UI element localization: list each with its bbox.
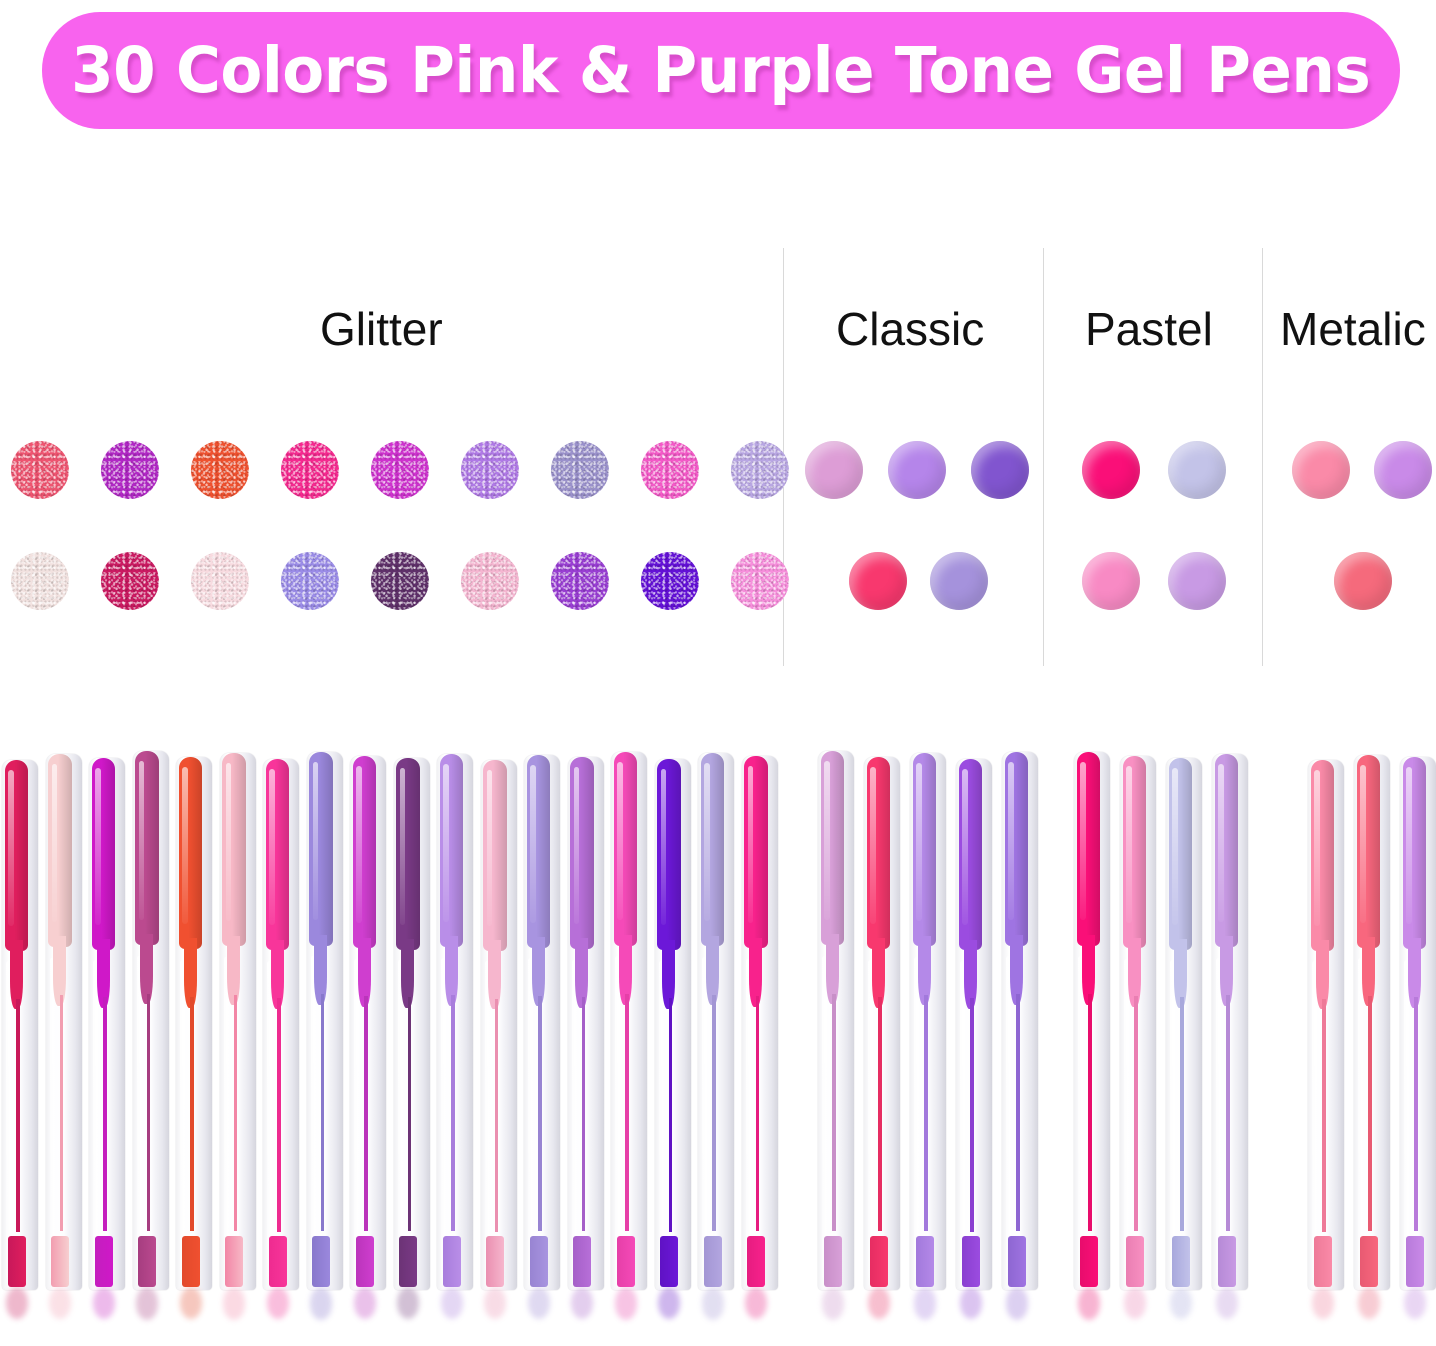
pen-cap: [48, 754, 72, 947]
pen-cap: [92, 758, 116, 950]
pen-gloss: [1358, 958, 1363, 1279]
pen-gloss: [1006, 956, 1011, 1279]
swatch-classic-r1-2: [971, 441, 1029, 499]
swatch-glitter-r2-4: [371, 552, 429, 610]
pen-ink-tube: [924, 995, 927, 1231]
swatch-glitter-r2-5: [461, 552, 519, 610]
swatch-glitter-r1-6: [551, 441, 609, 499]
pen-gloss: [311, 956, 316, 1279]
pen-classic-1: [864, 757, 900, 1290]
pen-gloss: [659, 961, 664, 1280]
swatch-glitter-r1-4: [371, 441, 429, 499]
pen-pastel-0: [1074, 752, 1110, 1290]
pen-ink-tube: [277, 998, 280, 1232]
pen-end-plug: [312, 1236, 330, 1287]
pen-reflection: [441, 1287, 463, 1319]
pen-end-plug: [356, 1236, 374, 1287]
swatch-pastel-r1-0: [1082, 441, 1140, 499]
pen-cap: [1403, 757, 1427, 949]
pen-gloss: [746, 959, 751, 1279]
pen-ink-tube: [1134, 996, 1137, 1231]
pen-reflection: [310, 1287, 332, 1319]
pen-glitter-16: [698, 753, 734, 1290]
pen-reflection: [1006, 1287, 1028, 1319]
page-title: 30 Colors Pink & Purple Tone Gel Pens: [71, 34, 1370, 107]
category-label-pastel: Pastel: [1085, 306, 1213, 352]
pen-gloss: [1124, 959, 1129, 1279]
pen-reflection: [1358, 1287, 1380, 1319]
pen-cap: [1215, 754, 1239, 947]
pen-gloss: [93, 960, 98, 1279]
swatch-classic-r2-0: [849, 552, 907, 610]
pen-ink-tube: [408, 997, 411, 1231]
pen-ink-tube: [1368, 996, 1371, 1231]
pen-cap: [959, 759, 983, 950]
pen-cap: [135, 751, 159, 945]
pen-glitter-6: [263, 759, 299, 1290]
pen-end-plug: [1314, 1236, 1332, 1286]
swatch-glitter-r1-0: [11, 441, 69, 499]
pen-cap: [266, 759, 290, 950]
pen-cap: [483, 760, 507, 951]
pen-cap: [1311, 760, 1335, 951]
pen-gloss: [354, 959, 359, 1279]
pen-glitter-15: [655, 759, 691, 1290]
swatch-metalic-r2-0: [1334, 552, 1392, 610]
swatch-glitter-r1-1: [101, 441, 159, 499]
pen-end-plug: [1406, 1236, 1424, 1287]
pen-gloss: [615, 956, 620, 1279]
pen-cap: [614, 752, 638, 946]
swatch-pastel-r2-1: [1168, 552, 1226, 610]
pen-cap: [867, 757, 891, 949]
pen-reflection: [397, 1287, 419, 1319]
pen-gloss: [1170, 960, 1175, 1279]
pen-end-plug: [916, 1236, 934, 1287]
pen-ink-tube: [60, 995, 63, 1231]
pen-gloss: [441, 958, 446, 1280]
pen-gloss: [960, 961, 965, 1280]
pen-classic-3: [956, 759, 992, 1290]
pen-pastel-2: [1166, 758, 1202, 1290]
pen-reflection: [1078, 1287, 1100, 1319]
pen-gloss: [6, 961, 11, 1279]
pen-end-plug: [225, 1236, 243, 1287]
swatch-metalic-r1-1: [1374, 441, 1432, 499]
pen-end-plug: [399, 1236, 417, 1287]
swatch-glitter-r1-8: [731, 441, 789, 499]
pen-ink-tube: [1016, 994, 1019, 1231]
pen-gloss: [224, 957, 229, 1279]
swatch-classic-r1-1: [888, 441, 946, 499]
pen-reflection: [6, 1287, 28, 1319]
category-label-classic: Classic: [836, 306, 984, 352]
pen-end-plug: [51, 1236, 69, 1287]
pen-end-plug: [962, 1236, 980, 1286]
pen-cap: [1123, 756, 1147, 948]
pen-gloss: [572, 960, 577, 1280]
pen-ink-tube: [103, 997, 106, 1231]
pen-gloss: [1216, 958, 1221, 1280]
pen-end-plug: [530, 1236, 548, 1287]
swatch-glitter-r2-7: [641, 552, 699, 610]
pen-gloss: [50, 958, 55, 1280]
pen-ink-tube: [495, 999, 498, 1232]
pen-cap: [1077, 752, 1101, 946]
pen-pastel-3: [1212, 754, 1248, 1290]
pen-gloss: [1312, 961, 1317, 1279]
swatch-glitter-r1-5: [461, 441, 519, 499]
pen-ink-tube: [1088, 994, 1091, 1231]
pen-cap: [1169, 758, 1193, 950]
pen-reflection: [960, 1287, 982, 1319]
pen-ink-tube: [451, 995, 454, 1231]
swatch-metalic-r1-0: [1292, 441, 1350, 499]
pen-gloss: [702, 957, 707, 1279]
pen-reflection: [914, 1287, 936, 1319]
pen-gloss: [1078, 956, 1083, 1279]
pen-ink-tube: [1226, 995, 1229, 1231]
pen-end-plug: [1080, 1236, 1098, 1287]
swatch-glitter-r2-1: [101, 552, 159, 610]
pen-ink-tube: [756, 996, 759, 1231]
pen-cap: [570, 757, 594, 949]
pen-end-plug: [824, 1236, 842, 1287]
pen-cap: [657, 759, 681, 950]
divider-pastel-metalic: [1262, 248, 1263, 666]
pen-pastel-1: [1120, 756, 1156, 1290]
pen-end-plug: [660, 1236, 678, 1286]
pen-reflection: [1124, 1287, 1146, 1319]
pen-reflection: [1312, 1287, 1334, 1319]
pen-end-plug: [182, 1236, 200, 1287]
pen-reflection: [180, 1287, 202, 1319]
pen-reflection: [822, 1287, 844, 1319]
title-banner: 30 Colors Pink & Purple Tone Gel Pens: [42, 12, 1400, 129]
pen-cap: [913, 753, 937, 946]
pen-cap: [179, 757, 203, 949]
pen-cap: [5, 760, 29, 951]
pen-cap: [222, 753, 246, 946]
pen-ink-tube: [364, 996, 367, 1231]
pen-ink-tube: [712, 995, 715, 1231]
pen-ink-tube: [16, 999, 19, 1232]
pen-metalic-2: [1400, 757, 1436, 1290]
swatch-glitter-r2-6: [551, 552, 609, 610]
pen-cap: [744, 756, 768, 948]
pen-ink-tube: [1414, 997, 1417, 1232]
pen-cap: [353, 756, 377, 948]
pen-cap: [527, 755, 551, 948]
pen-ink-tube: [832, 994, 835, 1231]
pen-reflection: [571, 1287, 593, 1319]
pen-glitter-11: [481, 760, 517, 1290]
pen-ink-tube: [1322, 999, 1325, 1232]
pen-gloss: [822, 956, 827, 1279]
pen-ink-tube: [625, 994, 628, 1231]
pen-glitter-2: [89, 758, 125, 1290]
pen-glitter-3: [133, 751, 169, 1290]
swatch-pastel-r2-0: [1082, 552, 1140, 610]
pen-end-plug: [1126, 1236, 1144, 1287]
pen-gloss: [1404, 960, 1409, 1280]
pen-metalic-1: [1354, 755, 1390, 1290]
pen-reflection: [1404, 1287, 1426, 1319]
pen-glitter-1: [46, 754, 82, 1290]
pen-end-plug: [617, 1236, 635, 1287]
pen-glitter-17: [742, 756, 778, 1290]
pen-reflection: [354, 1287, 376, 1319]
pen-reflection: [1216, 1287, 1238, 1319]
pen-reflection: [93, 1287, 115, 1319]
swatch-glitter-r1-3: [281, 441, 339, 499]
swatch-classic-r1-0: [805, 441, 863, 499]
pen-ink-tube: [234, 995, 237, 1231]
pen-classic-0: [818, 751, 854, 1290]
pen-cap: [396, 758, 420, 950]
pen-ink-tube: [147, 994, 150, 1231]
pen-end-plug: [1218, 1236, 1236, 1287]
pen-reflection: [1170, 1287, 1192, 1319]
swatch-pastel-r1-1: [1168, 441, 1226, 499]
pen-cap: [440, 754, 464, 947]
pen-ink-tube: [1180, 997, 1183, 1231]
pen-end-plug: [747, 1236, 765, 1287]
pen-gloss: [137, 956, 142, 1279]
pen-cap: [1357, 755, 1381, 948]
pen-glitter-9: [394, 758, 430, 1290]
pen-reflection: [745, 1287, 767, 1319]
pen-end-plug: [1360, 1236, 1378, 1287]
pen-reflection: [702, 1287, 724, 1319]
pen-gloss: [485, 961, 490, 1279]
category-label-glitter: Glitter: [320, 306, 443, 352]
pen-glitter-5: [220, 753, 256, 1290]
pen-cap: [1005, 752, 1029, 946]
pen-reflection: [615, 1287, 637, 1319]
swatch-glitter-r2-2: [191, 552, 249, 610]
pen-cap: [309, 752, 333, 946]
swatch-glitter-r1-7: [641, 441, 699, 499]
pen-end-plug: [486, 1236, 504, 1286]
swatch-glitter-r2-0: [11, 552, 69, 610]
pen-reflection: [658, 1287, 680, 1319]
pen-reflection: [267, 1287, 289, 1319]
pen-glitter-7: [307, 752, 343, 1290]
product-infographic: 30 Colors Pink & Purple Tone Gel Pens Gl…: [0, 0, 1436, 1346]
pen-end-plug: [1172, 1236, 1190, 1287]
swatch-glitter-r2-3: [281, 552, 339, 610]
pen-glitter-12: [524, 755, 560, 1290]
pen-reflection: [484, 1287, 506, 1319]
pen-end-plug: [870, 1236, 888, 1287]
pen-gloss: [528, 958, 533, 1279]
pen-glitter-10: [437, 754, 473, 1290]
swatch-classic-r2-1: [930, 552, 988, 610]
swatch-glitter-r1-2: [191, 441, 249, 499]
pen-end-plug: [443, 1236, 461, 1287]
pen-gloss: [267, 961, 272, 1280]
pen-end-plug: [1008, 1236, 1026, 1287]
pen-end-plug: [138, 1236, 156, 1287]
pen-ink-tube: [582, 997, 585, 1232]
pen-reflection: [223, 1287, 245, 1319]
pen-glitter-8: [350, 756, 386, 1290]
pen-classic-4: [1002, 752, 1038, 1290]
pen-ink-tube: [321, 994, 324, 1231]
pen-end-plug: [95, 1236, 113, 1287]
pen-end-plug: [8, 1236, 26, 1286]
pen-cap: [821, 751, 845, 945]
pen-ink-tube: [878, 997, 881, 1232]
pen-reflection: [868, 1287, 890, 1319]
pen-glitter-14: [611, 752, 647, 1290]
pen-reflection: [136, 1287, 158, 1319]
pen-gloss: [868, 960, 873, 1280]
pen-end-plug: [269, 1236, 287, 1286]
pen-end-plug: [573, 1236, 591, 1287]
pen-glitter-4: [176, 757, 212, 1290]
swatch-glitter-r2-8: [731, 552, 789, 610]
pen-gloss: [914, 957, 919, 1279]
pen-gloss: [398, 960, 403, 1279]
category-label-metalic: Metalic: [1280, 306, 1426, 352]
pen-ink-tube: [970, 998, 973, 1232]
pen-metalic-0: [1308, 760, 1344, 1290]
pen-gloss: [180, 960, 185, 1280]
pen-reflection: [528, 1287, 550, 1319]
divider-classic-pastel: [1043, 248, 1044, 666]
pen-ink-tube: [538, 996, 541, 1231]
pen-glitter-0: [2, 760, 38, 1290]
pen-reflection: [49, 1287, 71, 1319]
pen-cap: [701, 753, 725, 946]
pen-classic-2: [910, 753, 946, 1290]
pen-end-plug: [704, 1236, 722, 1287]
pen-ink-tube: [190, 997, 193, 1232]
pen-glitter-13: [568, 757, 604, 1290]
pen-ink-tube: [669, 998, 672, 1232]
